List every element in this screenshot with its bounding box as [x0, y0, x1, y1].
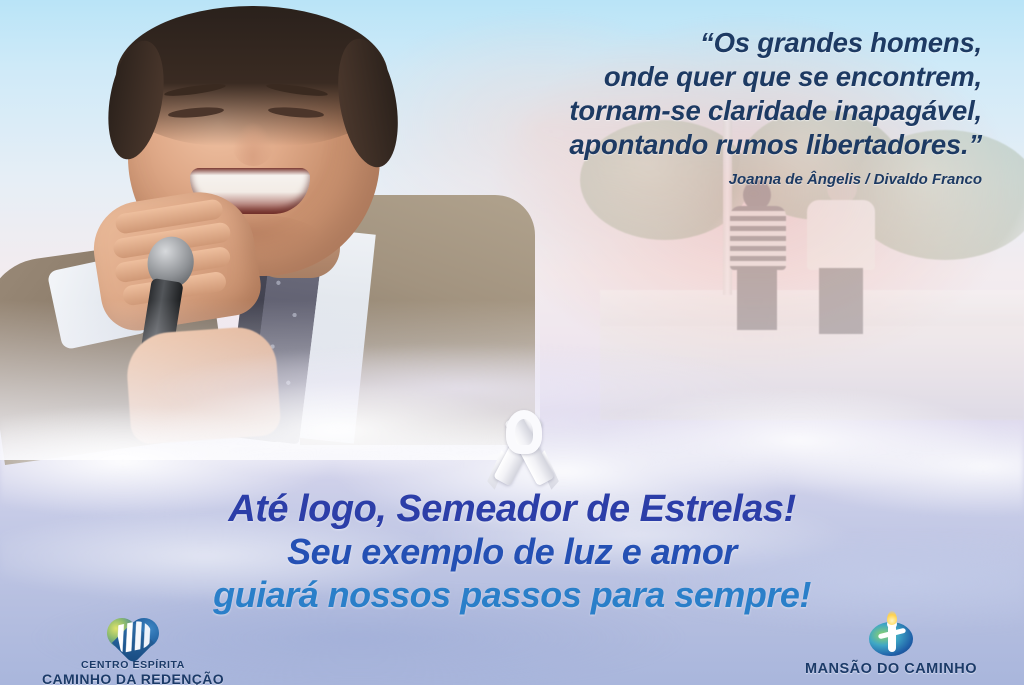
- quote-line-2: onde quer que se encontrem,: [362, 60, 982, 94]
- quote-line-3: tornam-se claridade inapagável,: [362, 94, 982, 128]
- quote-line-4: apontando rumos libertadores.”: [362, 128, 982, 162]
- quote-attribution: Joanna de Ângelis / Divaldo Franco: [362, 171, 982, 188]
- quote-line-1: “Os grandes homens,: [362, 26, 982, 60]
- logo-left-line-2: CAMINHO DA REDENÇÃO: [8, 671, 258, 685]
- memorial-headline: Até logo, Semeador de Estrelas! Seu exem…: [0, 488, 1024, 617]
- white-ribbon-icon: [482, 410, 564, 490]
- logo-centro-espirita-caminho-da-redencao: CENTRO ESPÍRITA CAMINHO DA REDENÇÃO: [8, 616, 258, 685]
- heart-hands-icon: [107, 616, 159, 656]
- logo-right-caption: MANSÃO DO CAMINHO: [766, 661, 1016, 678]
- logo-right-line-1: MANSÃO DO CAMINHO: [766, 661, 1016, 678]
- headline-line-2: Seu exemplo de luz e amor: [0, 531, 1024, 573]
- quote-text: “Os grandes homens, onde quer que se enc…: [362, 26, 982, 162]
- headline-line-1: Até logo, Semeador de Estrelas!: [0, 488, 1024, 531]
- logo-left-caption: CENTRO ESPÍRITA CAMINHO DA REDENÇÃO: [8, 659, 258, 685]
- headline-line-3: guiará nossos passos para sempre!: [0, 573, 1024, 617]
- globe-figure-flame-icon: [869, 616, 913, 658]
- logo-mansao-do-caminho: MANSÃO DO CAMINHO: [766, 616, 1016, 678]
- memorial-poster: “Os grandes homens, onde quer que se enc…: [0, 0, 1024, 685]
